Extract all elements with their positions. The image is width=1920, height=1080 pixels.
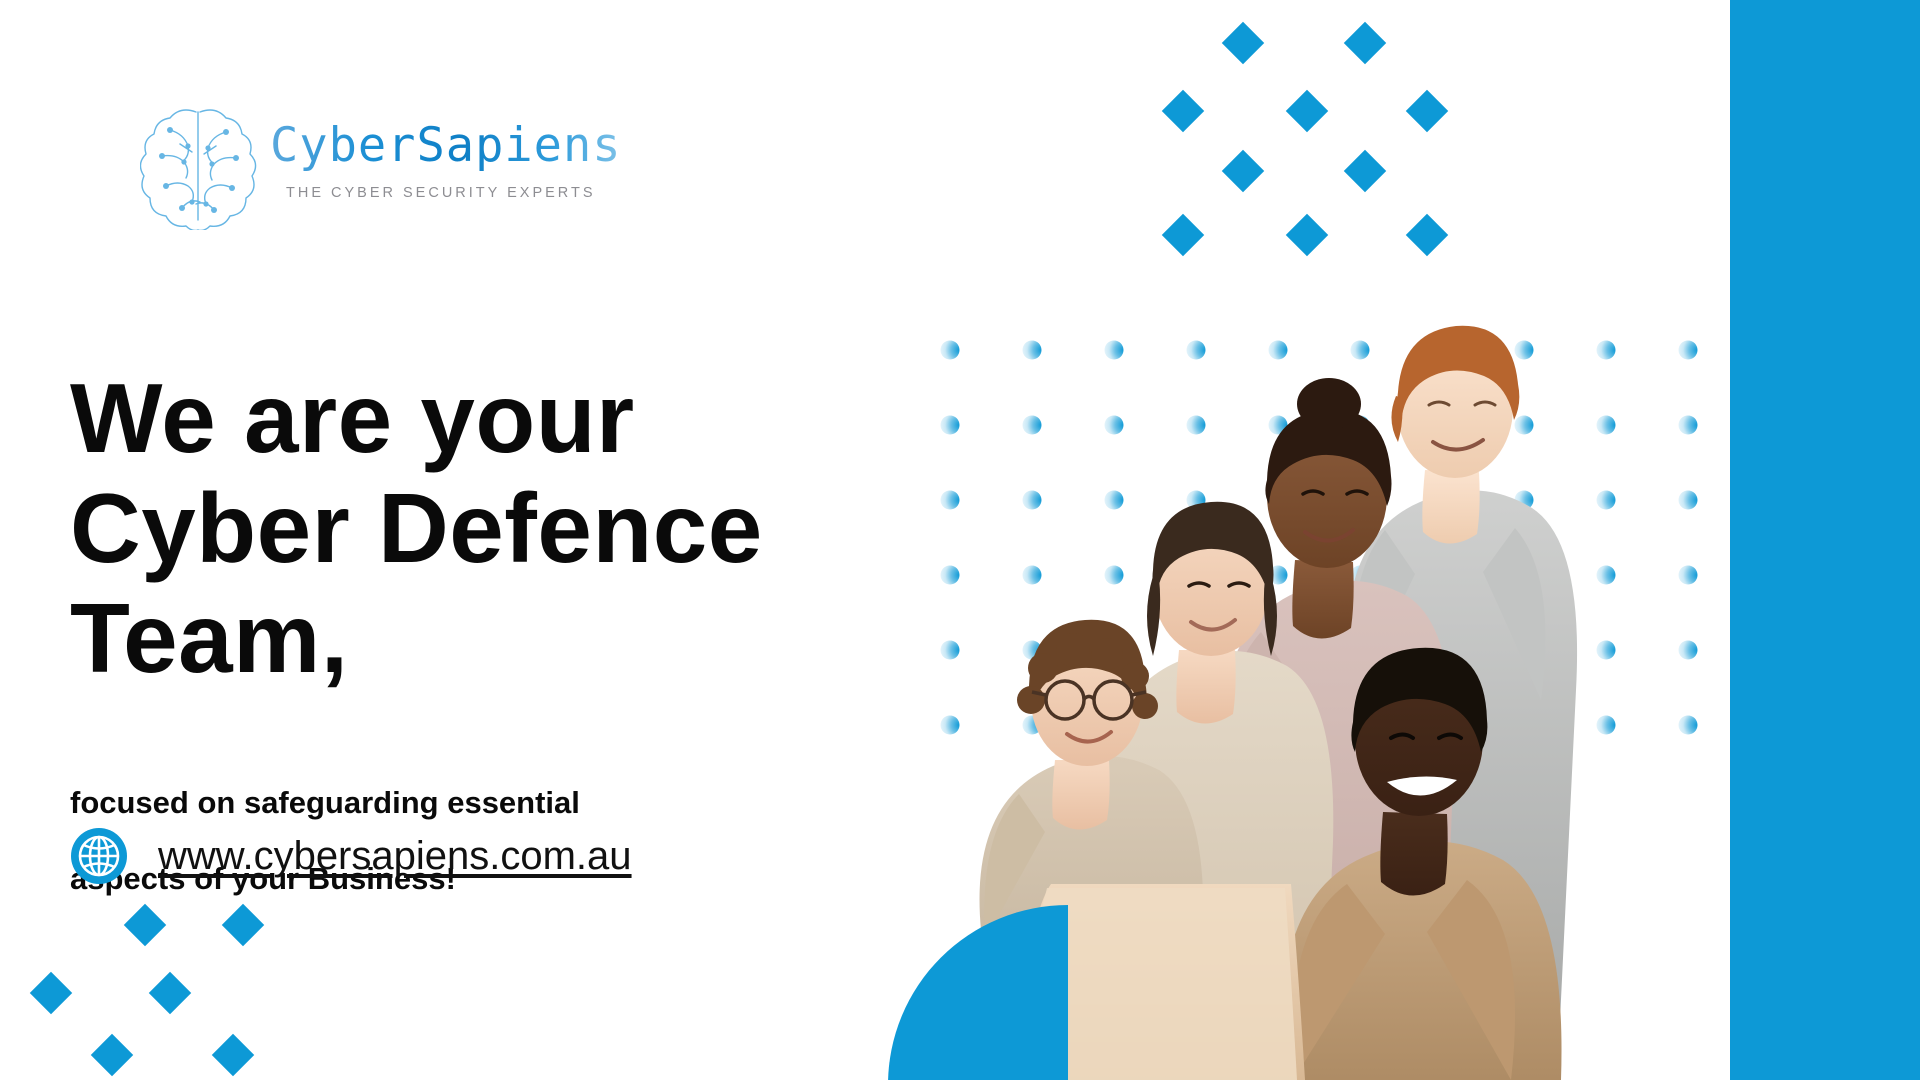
- team-photo: [955, 0, 1730, 1080]
- headline-line-1: We are your: [70, 364, 970, 474]
- decor-diamond: [222, 904, 264, 946]
- decor-diamond: [149, 972, 191, 1014]
- decor-diamond: [124, 904, 166, 946]
- subtext-line-1: focused on safeguarding essential: [70, 784, 930, 822]
- page-title: We are your Cyber Defence Team,: [70, 364, 970, 693]
- right-accent-bar: [1730, 0, 1920, 1080]
- brand-tagline: THE CYBER SECURITY EXPERTS: [286, 185, 596, 201]
- decor-diamond: [212, 1034, 254, 1076]
- decor-arc: [888, 905, 1068, 1080]
- website-url-link[interactable]: www.cybersapiens.com.au: [158, 834, 632, 879]
- headline-line-2: Cyber Defence: [70, 474, 970, 584]
- brand-name: CyberSapiens: [270, 118, 622, 173]
- decor-diamond: [91, 1034, 133, 1076]
- decor-diamond: [30, 972, 72, 1014]
- headline-line-3: Team,: [70, 584, 970, 694]
- website-link-row[interactable]: www.cybersapiens.com.au: [70, 820, 632, 892]
- globe-icon: [70, 827, 128, 885]
- brain-circuit-icon: [140, 100, 258, 230]
- brand-logo[interactable]: CyberSapiens THE CYBER SECURITY EXPERTS: [140, 100, 620, 230]
- slide-canvas: CyberSapiens THE CYBER SECURITY EXPERTS …: [0, 0, 1920, 1080]
